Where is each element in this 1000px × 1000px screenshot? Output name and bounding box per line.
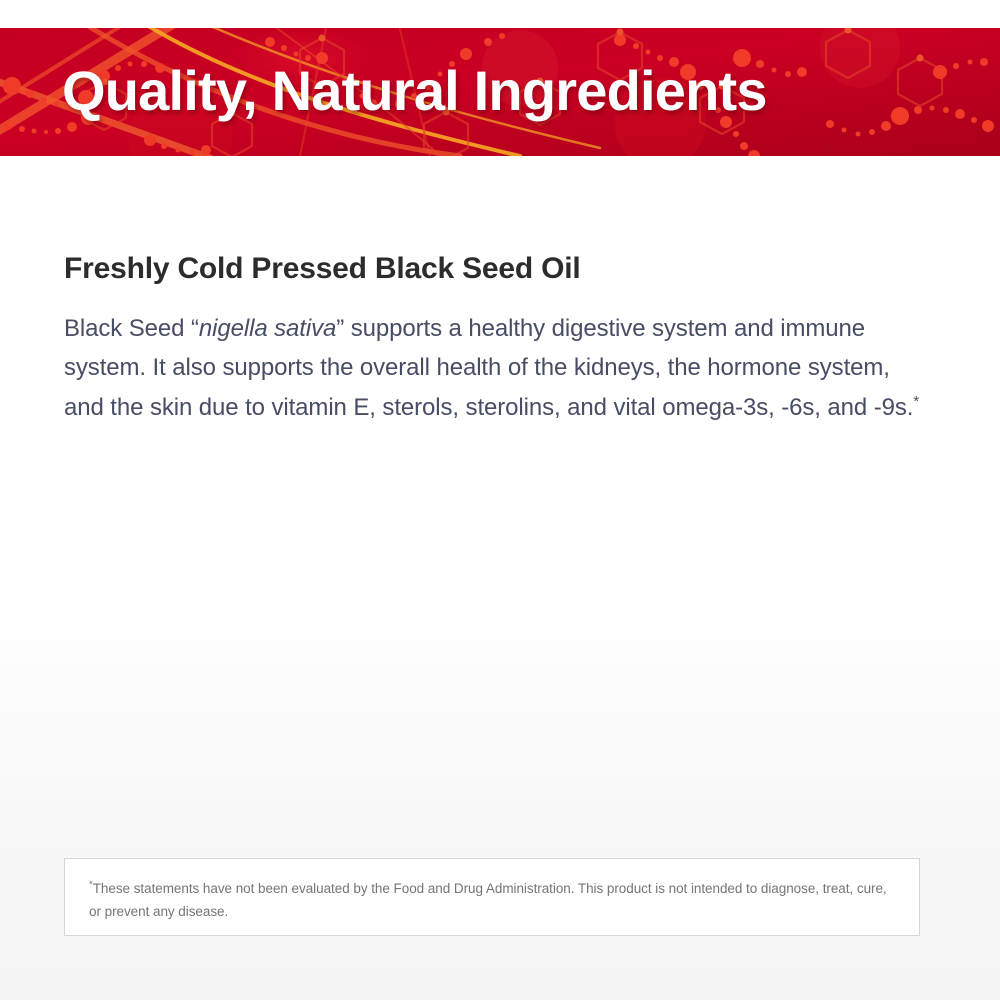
- description-part-1: Black Seed: [64, 315, 191, 342]
- species-name: nigella sativa: [199, 315, 336, 342]
- description-footnote-marker: *: [913, 394, 919, 410]
- banner-title: Quality, Natural Ingredients: [62, 63, 767, 119]
- product-info-panel: Quality, Natural Ingredients Freshly Col…: [0, 0, 1000, 1000]
- quote-close: ”: [336, 315, 344, 342]
- quote-open: “: [191, 315, 199, 342]
- disclaimer-text: *These statements have not been evaluate…: [89, 877, 897, 923]
- product-heading: Freshly Cold Pressed Black Seed Oil: [64, 252, 934, 287]
- content-section: Freshly Cold Pressed Black Seed Oil Blac…: [64, 252, 934, 428]
- disclaimer-box: *These statements have not been evaluate…: [64, 858, 920, 936]
- disclaimer-body: These statements have not been evaluated…: [89, 881, 887, 919]
- banner-header: Quality, Natural Ingredients: [0, 28, 1000, 156]
- product-description: Black Seed “nigella sativa” supports a h…: [64, 309, 924, 428]
